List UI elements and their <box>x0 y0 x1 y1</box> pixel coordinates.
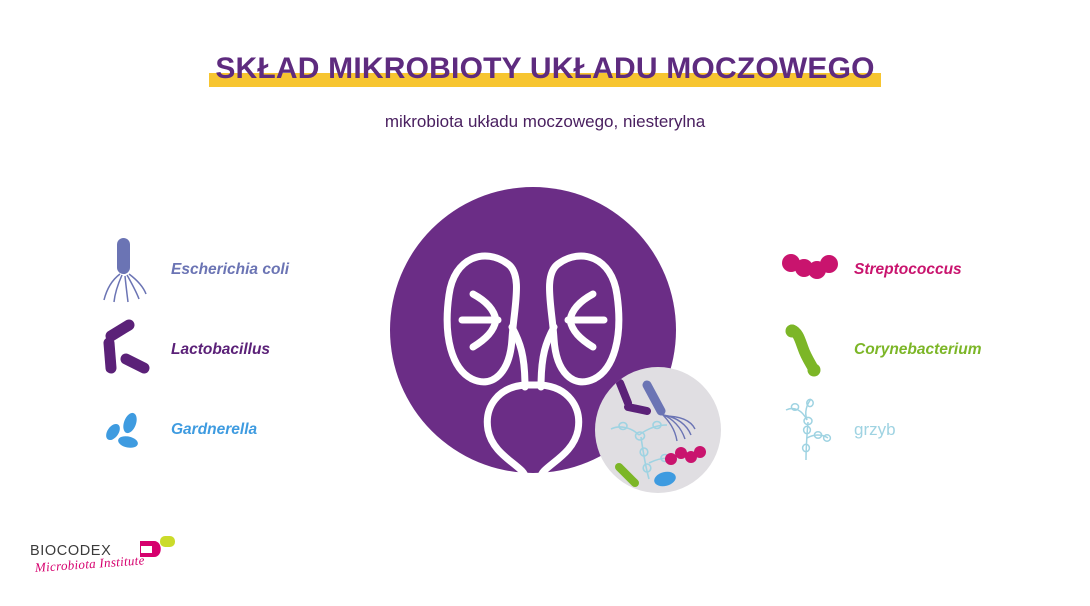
page-subtitle: mikrobiota układu moczowego, niesterylna <box>0 112 1090 132</box>
legend-label: Lactobacillus <box>171 341 270 359</box>
microbiota-magnifier <box>595 367 721 493</box>
bacterium-rod-flagella-icon <box>99 234 157 306</box>
legend-item-grzyb: grzyb <box>780 390 1070 470</box>
slide-canvas: SKŁAD MIKROBIOTY UKŁADU MOCZOWEGO mikrob… <box>0 0 1090 606</box>
biocodex-logo[interactable]: BIOCODEX Microbiota Institute <box>30 534 170 580</box>
bacterium-coccobacilli-icon <box>99 394 157 466</box>
legend-item-streptococcus: Streptococcus <box>780 230 1070 310</box>
legend-right-column: Streptococcus Corynebacterium <box>780 230 1070 470</box>
legend-label: grzyb <box>854 420 896 440</box>
page-title-text: SKŁAD MIKROBIOTY UKŁADU MOCZOWEGO <box>215 52 874 85</box>
bacterium-cocci-chain-icon <box>780 234 838 306</box>
legend-label: Streptococcus <box>854 261 962 279</box>
legend-label: Corynebacterium <box>854 341 981 359</box>
bacterium-club-rod-icon <box>780 314 838 386</box>
legend-label: Gardnerella <box>171 421 257 439</box>
legend-item-escherichia-coli: Escherichia coli <box>95 230 375 310</box>
legend-label: Escherichia coli <box>171 261 289 279</box>
legend-item-corynebacterium: Corynebacterium <box>780 310 1070 390</box>
bacterium-rods-cluster-icon <box>99 314 157 386</box>
legend-item-lactobacillus: Lactobacillus <box>95 310 375 390</box>
legend-item-gardnerella: Gardnerella <box>95 390 375 470</box>
page-title: SKŁAD MIKROBIOTY UKŁADU MOCZOWEGO <box>0 50 1090 88</box>
legend-left-column: Escherichia coli Lactobacillus <box>95 230 375 470</box>
fungus-hypha-icon <box>780 394 838 466</box>
